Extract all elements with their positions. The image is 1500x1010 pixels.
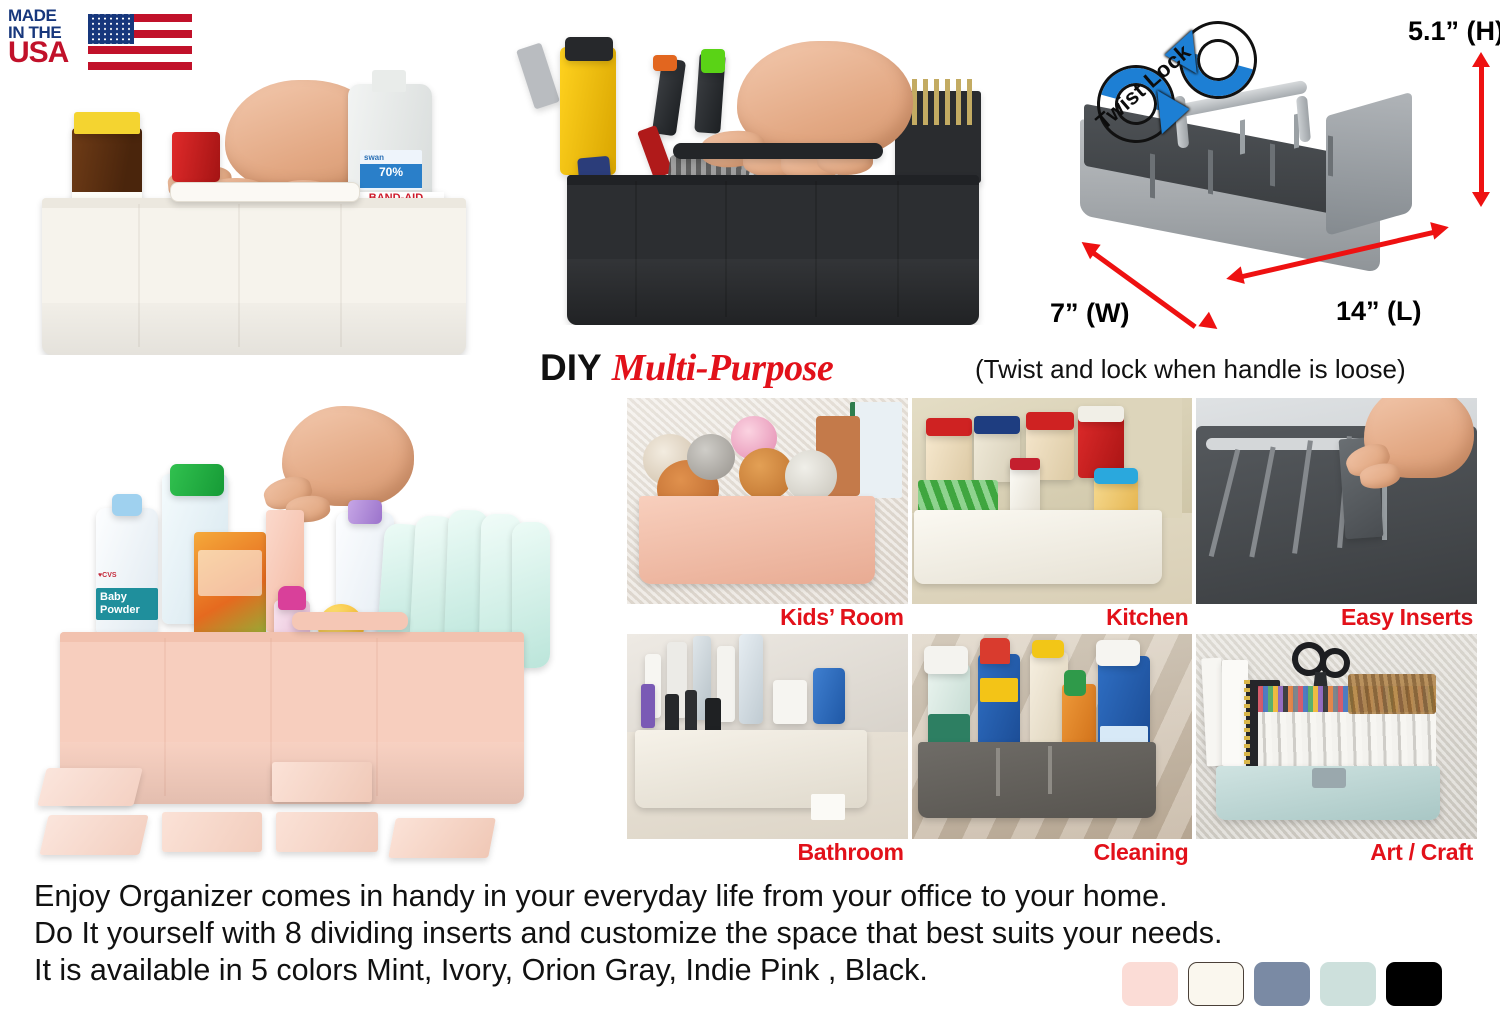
kids-room-photo: [627, 398, 908, 604]
usecase-cell-bathroom[interactable]: Bathroom: [627, 634, 908, 866]
color-swatch-black[interactable]: [1386, 962, 1442, 1006]
caddy-handle: [170, 182, 360, 202]
diy-text: DIY: [540, 347, 602, 388]
usecase-label-art-craft: Art / Craft: [1370, 839, 1473, 865]
bathroom-photo: [627, 634, 908, 840]
usecase-cell-easy-inserts[interactable]: Easy Inserts: [1196, 398, 1477, 630]
usecase-label-kids-room: Kids’ Room: [780, 604, 904, 630]
usecase-label-bathroom: Bathroom: [797, 839, 903, 865]
twist-lock-label: Twist Lock: [1085, 30, 1215, 150]
usecase-cell-cleaning[interactable]: Cleaning: [912, 634, 1193, 866]
hero-photo-ivory-caddy-medicine: Nature Made swan 70% BAND-AID FLEXIBLE F…: [30, 70, 490, 355]
made-in-usa-badge: MADE IN THE USA: [8, 6, 198, 74]
ivory-caddy: [42, 198, 466, 355]
color-swatch-ivory[interactable]: [1188, 962, 1244, 1006]
usa-flag-icon: [88, 14, 192, 70]
caddy-handle: [673, 143, 883, 159]
height-arrow-head-bottom: [1472, 192, 1490, 207]
hero-photo-black-caddy-tools: [505, 35, 1005, 325]
divider-insert: [37, 768, 142, 806]
color-swatch-orion-gray[interactable]: [1254, 962, 1310, 1006]
height-label: 5.1” (H): [1408, 16, 1500, 47]
description-line-2: Do It yourself with 8 dividing inserts a…: [34, 915, 1144, 952]
black-caddy: [567, 175, 979, 325]
usecase-cell-kids-room[interactable]: Kids’ Room: [627, 398, 908, 630]
easy-inserts-photo: [1196, 398, 1477, 604]
usecase-label-easy-inserts: Easy Inserts: [1341, 604, 1473, 630]
divider-insert: [162, 812, 262, 852]
description-line-3: It is available in 5 colors Mint, Ivory,…: [34, 952, 1144, 989]
art-craft-photo: [1196, 634, 1477, 840]
diy-heading: DIYMulti-Purpose: [540, 346, 833, 390]
usecase-grid: Kids’ Room Kitchen: [627, 398, 1477, 865]
usecase-label-kitchen: Kitchen: [1106, 604, 1188, 630]
usecase-label-cleaning: Cleaning: [1094, 839, 1189, 865]
cleaning-photo: [912, 634, 1193, 840]
description-block: Enjoy Organizer comes in handy in your e…: [34, 878, 1144, 989]
height-arrow-head-top: [1472, 52, 1490, 67]
divider-insert: [388, 818, 496, 858]
divider-insert: [276, 812, 378, 852]
color-swatch-row: [1122, 962, 1442, 1006]
width-arrow-head-lower: [1198, 312, 1222, 337]
color-swatch-indie-pink[interactable]: [1122, 962, 1178, 1006]
usecase-cell-kitchen[interactable]: Kitchen: [912, 398, 1193, 630]
length-label: 14” (L): [1336, 296, 1422, 327]
hero-photo-pink-caddy-baby: BabyPowder ♥CVS: [34, 400, 604, 870]
usecase-cell-art-craft[interactable]: Art / Craft: [1196, 634, 1477, 866]
length-arrow-head-left: [1224, 266, 1245, 287]
height-arrow: [1479, 64, 1484, 196]
twist-lock-label-text: Twist Lock: [1091, 39, 1196, 135]
length-arrow-head-right: [1430, 218, 1451, 239]
caddy-handle: [292, 612, 408, 630]
width-label: 7” (W): [1050, 298, 1129, 329]
color-swatch-mint[interactable]: [1320, 962, 1376, 1006]
kitchen-photo: [912, 398, 1193, 604]
divider-insert: [39, 815, 148, 855]
divider-insert: [272, 762, 372, 802]
twist-lock-note: (Twist and lock when handle is loose): [975, 354, 1406, 385]
description-line-1: Enjoy Organizer comes in handy in your e…: [34, 878, 1144, 915]
badge-line-3: USA: [8, 38, 88, 67]
multi-purpose-text: Multi-Purpose: [612, 347, 834, 389]
